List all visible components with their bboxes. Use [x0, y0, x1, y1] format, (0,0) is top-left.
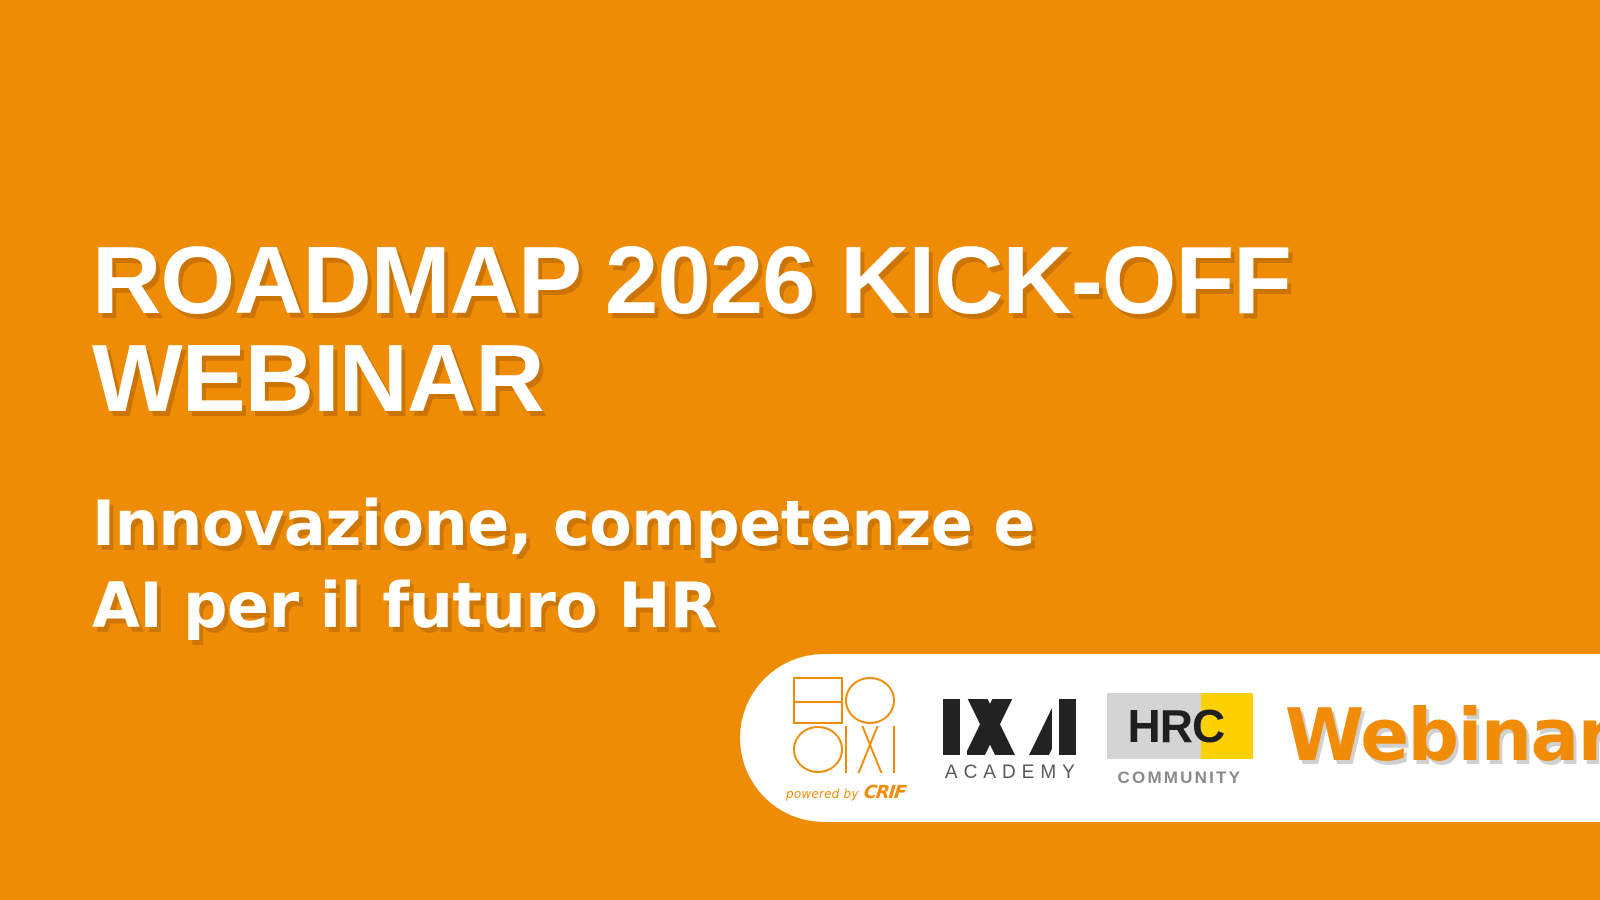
webinar-promo-banner: ROADMAP 2026 KICK-OFF WEBINAR Innovazion…	[0, 0, 1600, 900]
imi-academy-logo: ACADEMY	[939, 693, 1081, 784]
boom-logomark	[793, 677, 897, 773]
imi-letter-i-right-icon	[1059, 699, 1076, 755]
powered-by-label: powered by	[786, 787, 859, 801]
boom-logo: powered by CRIF	[786, 654, 905, 822]
imi-letter-i-left-icon	[943, 699, 960, 755]
page-title: ROADMAP 2026 KICK-OFF WEBINAR	[92, 232, 1442, 428]
boom-letter-o-top-icon	[845, 677, 895, 724]
boom-letter-b-icon	[793, 677, 843, 724]
logo-bar: powered by CRIF ACADEMY HRC COMMUNITY	[740, 654, 1600, 822]
boom-powered-by: powered by CRIF	[786, 782, 905, 803]
hrc-wordmark: HRC	[1107, 693, 1253, 759]
page-subtitle: Innovazione, competenze e AI per il futu…	[92, 483, 1292, 647]
hrc-community-logo: HRC COMMUNITY	[1107, 689, 1253, 788]
imi-logomark	[943, 699, 1076, 755]
boom-logomark-row-top	[793, 677, 897, 724]
crif-wordmark: CRIF	[863, 782, 906, 803]
imi-academy-label: ACADEMY	[939, 762, 1081, 784]
boom-logomark-row-bottom	[793, 726, 897, 773]
imi-letter-m-icon	[967, 699, 1052, 755]
hrc-logomark: HRC	[1107, 693, 1253, 759]
boom-letter-o-bottom-icon	[793, 726, 843, 773]
hrc-community-label: COMMUNITY	[1118, 768, 1243, 788]
boom-letter-m-icon	[845, 726, 895, 773]
webinar-label: Webinar	[1285, 693, 1600, 783]
